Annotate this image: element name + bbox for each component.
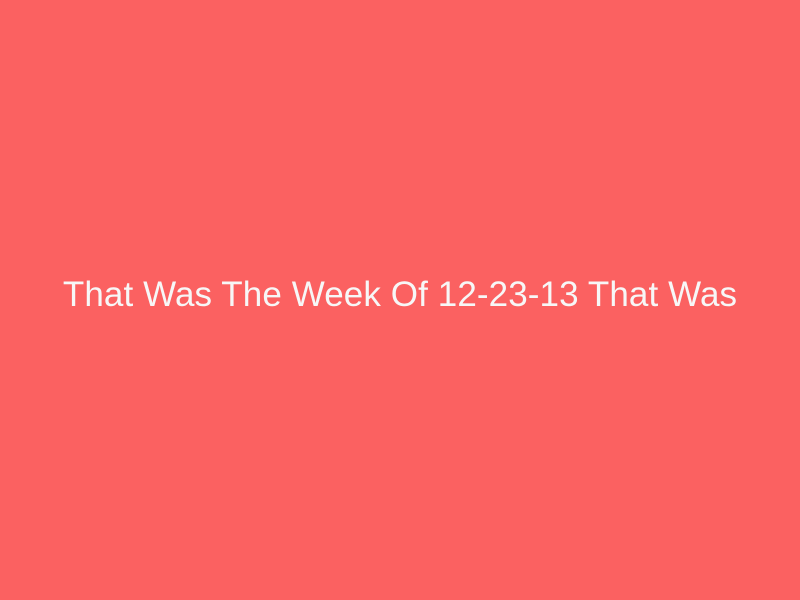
page-title: That Was The Week Of 12-23-13 That Was [40, 273, 760, 317]
title-card: That Was The Week Of 12-23-13 That Was [0, 0, 800, 600]
